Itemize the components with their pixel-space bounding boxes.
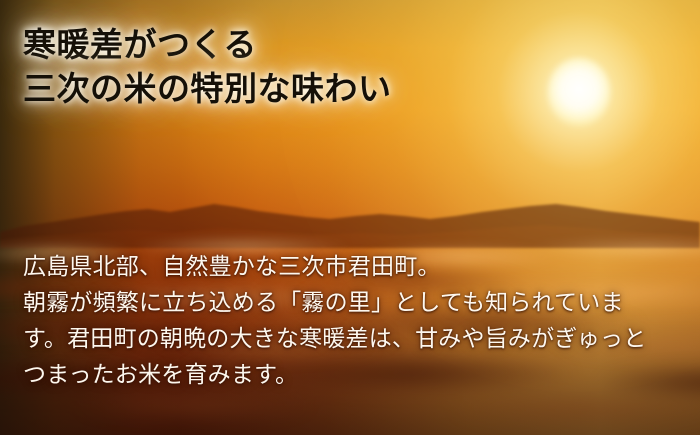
body-line-3: す。君田町の朝晩の大きな寒暖差は、甘みや旨みがぎゅっと [23, 321, 683, 357]
body-line-2: 朝霧が頻繁に立ち込める「霧の里」としても知られていま [23, 285, 683, 321]
body-copy: 広島県北部、自然豊かな三次市君田町。 朝霧が頻繁に立ち込める「霧の里」としても知… [23, 249, 683, 393]
headline: 寒暖差がつくる 三次の米の特別な味わい [23, 24, 663, 112]
headline-line-1: 寒暖差がつくる [23, 24, 663, 68]
body-line-1: 広島県北部、自然豊かな三次市君田町。 [23, 249, 683, 285]
sunset-rice-banner: 寒暖差がつくる 三次の米の特別な味わい 広島県北部、自然豊かな三次市君田町。 朝… [0, 0, 700, 435]
headline-line-2: 三次の米の特別な味わい [23, 68, 663, 112]
body-line-4: つまったお米を育みます。 [23, 357, 683, 393]
